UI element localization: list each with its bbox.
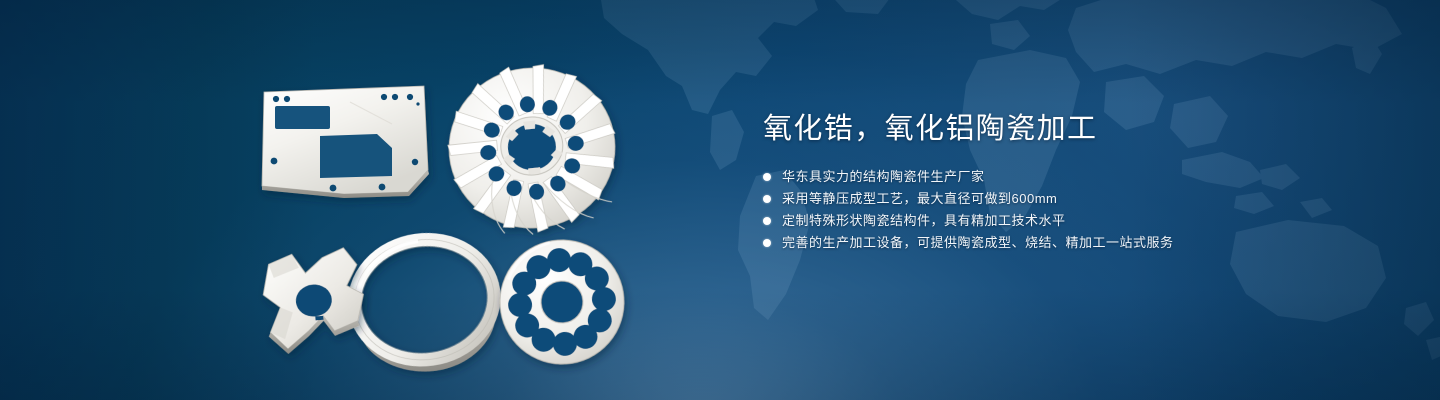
bullet-dot-icon — [763, 173, 771, 181]
list-item-label: 华东具实力的结构陶瓷件生产厂家 — [782, 166, 985, 188]
bullet-dot-icon — [763, 195, 771, 203]
list-item: 采用等静压成型工艺，最大直径可做到600mm — [763, 188, 1323, 210]
ceramic-machined-plate — [262, 86, 429, 198]
list-item: 定制特殊形状陶瓷结构件，具有精加工技术水平 — [763, 210, 1323, 232]
list-item-label: 采用等静压成型工艺，最大直径可做到600mm — [782, 188, 1057, 210]
ceramic-thin-ring — [347, 231, 504, 381]
ceramic-vaned-impeller-disc — [438, 55, 624, 243]
bullet-dot-icon — [763, 239, 771, 247]
list-item-label: 定制特殊形状陶瓷结构件，具有精加工技术水平 — [782, 210, 1066, 232]
list-item: 华东具实力的结构陶瓷件生产厂家 — [763, 166, 1323, 188]
banner-title: 氧化锆，氧化铝陶瓷加工 — [763, 110, 1323, 148]
hero-banner: 氧化锆，氧化铝陶瓷加工 华东具实力的结构陶瓷件生产厂家 采用等静压成型工艺，最大… — [0, 0, 1440, 400]
banner-text-block: 氧化锆，氧化铝陶瓷加工 华东具实力的结构陶瓷件生产厂家 采用等静压成型工艺，最大… — [763, 110, 1323, 254]
ceramic-products-image — [232, 40, 662, 385]
ceramic-perforated-flange-disc — [496, 236, 628, 368]
ceramic-cross-plate — [260, 246, 368, 355]
bullet-dot-icon — [763, 217, 771, 225]
banner-feature-list: 华东具实力的结构陶瓷件生产厂家 采用等静压成型工艺，最大直径可做到600mm 定… — [763, 166, 1323, 254]
list-item-label: 完善的生产加工设备，可提供陶瓷成型、烧结、精加工一站式服务 — [782, 232, 1174, 254]
list-item: 完善的生产加工设备，可提供陶瓷成型、烧结、精加工一站式服务 — [763, 232, 1323, 254]
